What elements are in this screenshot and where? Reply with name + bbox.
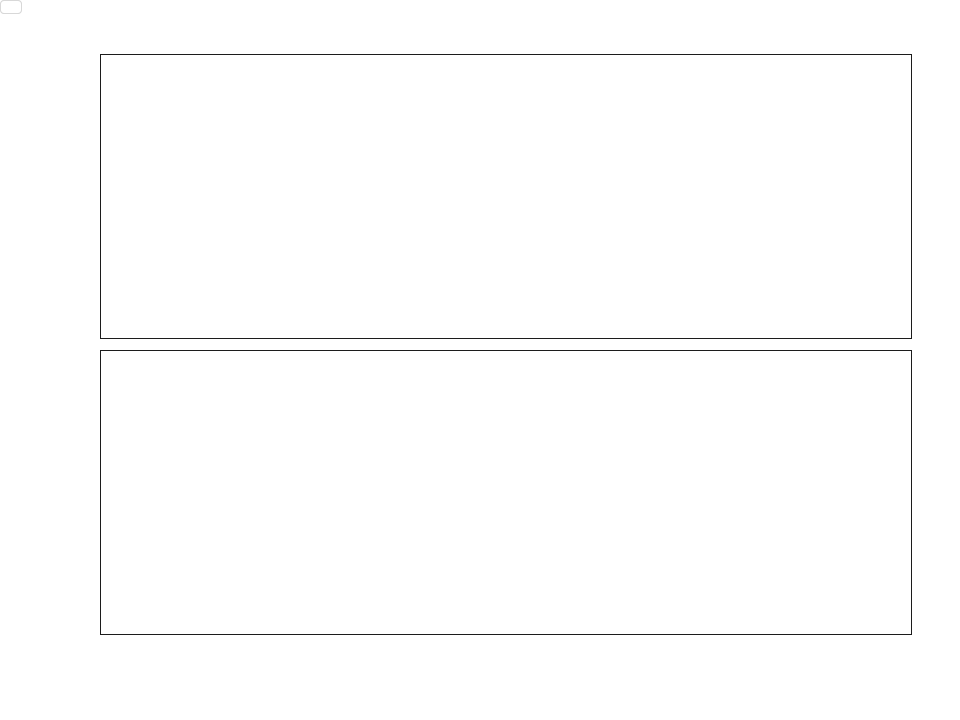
figure [0,0,960,720]
bottom-panel-counts [100,350,912,635]
bottom-legend [0,0,22,14]
bottom-plot-area [101,351,911,634]
top-panel-ratio [100,54,912,339]
top-plot-area [101,55,911,338]
